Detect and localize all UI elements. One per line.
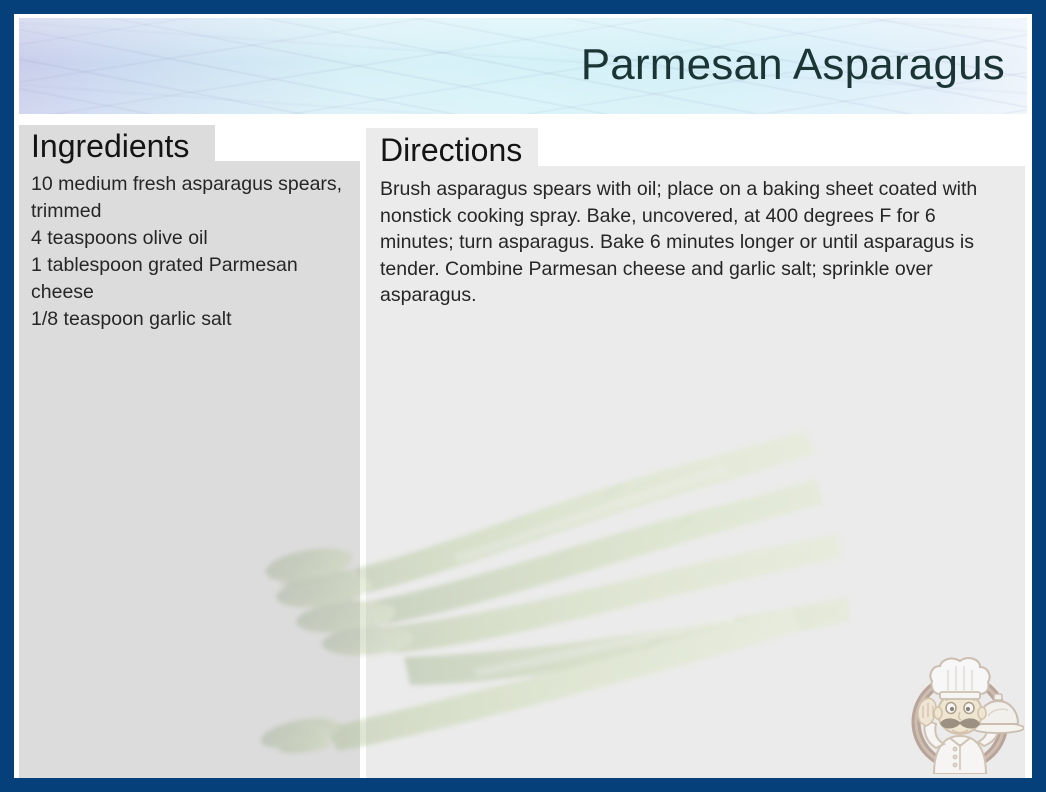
directions-panel: Directions Brush asparagus spears with o… <box>366 128 1025 778</box>
recipe-slide: Parmesan Asparagus Ingredients 10 medium… <box>0 0 1046 792</box>
slide-page: Parmesan Asparagus Ingredients 10 medium… <box>14 14 1032 778</box>
ingredients-panel: Ingredients 10 medium fresh asparagus sp… <box>19 125 360 778</box>
ingredients-list: 10 medium fresh asparagus spears, trimme… <box>31 171 346 333</box>
page-title: Parmesan Asparagus <box>581 43 1005 87</box>
ingredients-heading: Ingredients <box>31 126 189 166</box>
directions-heading: Directions <box>380 130 522 170</box>
title-banner: Parmesan Asparagus <box>19 18 1027 114</box>
directions-text: Brush asparagus spears with oil; place o… <box>380 176 1007 309</box>
